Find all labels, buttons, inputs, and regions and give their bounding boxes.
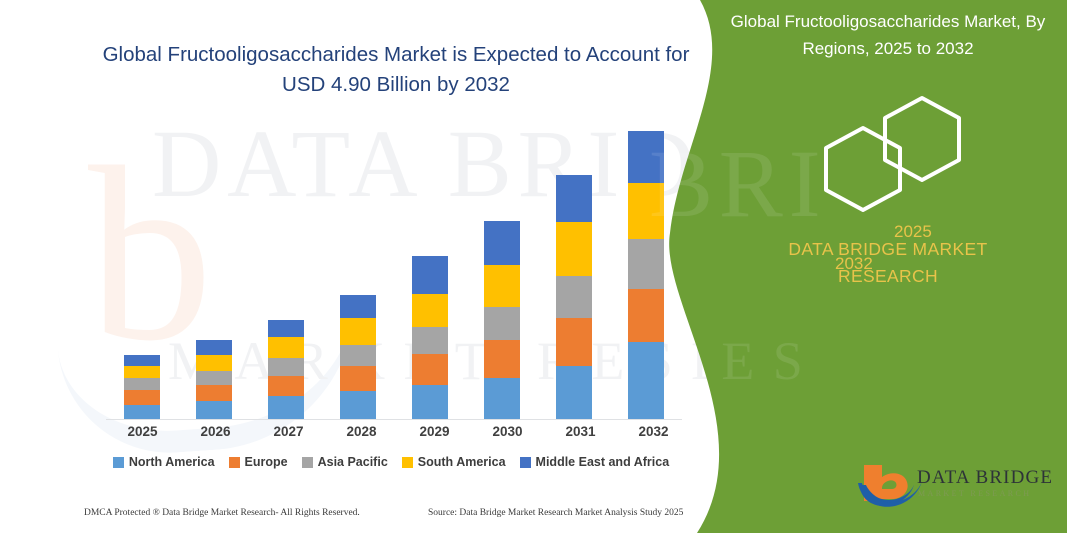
bar-segment bbox=[556, 276, 592, 318]
bar-segment bbox=[340, 391, 376, 419]
bar-segment bbox=[412, 385, 448, 419]
bar-segment bbox=[268, 320, 304, 336]
x-axis-line bbox=[106, 419, 682, 420]
legend-item[interactable]: Asia Pacific bbox=[302, 455, 388, 469]
x-axis-label-2026: 2026 bbox=[179, 424, 252, 439]
bar-slot bbox=[322, 120, 394, 419]
legend-item[interactable]: Middle East and Africa bbox=[520, 455, 670, 469]
bar-segment bbox=[124, 355, 160, 366]
bar-segment bbox=[196, 385, 232, 401]
bar-segment bbox=[628, 289, 664, 342]
source-notice: Source: Data Bridge Market Research Mark… bbox=[428, 508, 683, 518]
bar-segment bbox=[124, 405, 160, 419]
green-watermark-line2: RES bbox=[667, 330, 821, 392]
bar-segment bbox=[484, 378, 520, 419]
green-watermark-line1: BRI bbox=[649, 128, 826, 239]
stacked-bar-2028 bbox=[340, 295, 376, 419]
hexagon-outlines bbox=[807, 94, 987, 214]
bar-segment bbox=[196, 340, 232, 355]
bar-slot bbox=[250, 120, 322, 419]
year-hexagons: 2032 2025 bbox=[807, 94, 987, 214]
green-panel-content: BRI RES Global Fructooligosaccharides Ma… bbox=[667, 0, 1067, 533]
bar-segment bbox=[268, 358, 304, 376]
hexagon-2025 bbox=[885, 98, 959, 180]
bar-segment bbox=[340, 345, 376, 367]
x-axis-label-2030: 2030 bbox=[471, 424, 544, 439]
bar-segment bbox=[268, 376, 304, 397]
bar-segment bbox=[124, 378, 160, 390]
dmca-notice: DMCA Protected ® Data Bridge Market Rese… bbox=[84, 508, 360, 518]
data-bridge-logo: DATA BRIDGE MARKET RESEARCH bbox=[852, 455, 1052, 517]
legend-swatch-icon bbox=[402, 457, 413, 468]
legend-label: North America bbox=[129, 455, 215, 469]
bar-segment bbox=[340, 318, 376, 345]
stacked-bar-2027 bbox=[268, 320, 304, 419]
green-panel-title: Global Fructooligosaccharides Market, By… bbox=[723, 8, 1053, 62]
legend-label: South America bbox=[418, 455, 506, 469]
legend-label: Europe bbox=[245, 455, 288, 469]
stacked-bar-2029 bbox=[412, 256, 448, 419]
hexagon-2032 bbox=[826, 128, 900, 210]
bar-slot bbox=[466, 120, 538, 419]
bar-slot bbox=[106, 120, 178, 419]
bar-segment bbox=[556, 318, 592, 366]
bar-segment bbox=[340, 295, 376, 318]
bar-segment bbox=[268, 396, 304, 419]
bar-slot bbox=[538, 120, 610, 419]
bar-segment bbox=[412, 327, 448, 354]
chart-plot-area bbox=[106, 120, 682, 419]
logo-tagline: MARKET RESEARCH bbox=[918, 489, 1031, 498]
bar-segment bbox=[124, 366, 160, 377]
x-axis-label-2025: 2025 bbox=[106, 424, 179, 439]
x-axis-label-2031: 2031 bbox=[544, 424, 617, 439]
bar-segment bbox=[628, 342, 664, 419]
bar-segment bbox=[484, 221, 520, 265]
x-axis-label-2028: 2028 bbox=[325, 424, 398, 439]
bar-segment bbox=[484, 340, 520, 378]
chart-legend: North AmericaEuropeAsia PacificSouth Ame… bbox=[96, 455, 686, 469]
bar-segment bbox=[484, 307, 520, 340]
green-side-panel: BRI RES Global Fructooligosaccharides Ma… bbox=[667, 0, 1067, 533]
legend-swatch-icon bbox=[520, 457, 531, 468]
stacked-bar-2026 bbox=[196, 340, 232, 419]
footer: DMCA Protected ® Data Bridge Market Rese… bbox=[0, 508, 700, 528]
legend-label: Middle East and Africa bbox=[536, 455, 670, 469]
bar-segment bbox=[412, 354, 448, 385]
legend-item[interactable]: South America bbox=[402, 455, 506, 469]
bar-segment bbox=[268, 337, 304, 359]
logo-wordmark: DATA BRIDGE bbox=[917, 467, 1053, 489]
legend-swatch-icon bbox=[302, 457, 313, 468]
bar-segment bbox=[556, 175, 592, 222]
brand-name: DATA BRIDGE MARKET RESEARCH bbox=[773, 236, 1003, 290]
page-title: Global Fructooligosaccharides Market is … bbox=[96, 40, 696, 100]
legend-item[interactable]: Europe bbox=[229, 455, 288, 469]
bar-segment bbox=[412, 294, 448, 327]
legend-swatch-icon bbox=[113, 457, 124, 468]
legend-item[interactable]: North America bbox=[113, 455, 215, 469]
bar-segment bbox=[484, 265, 520, 306]
bar-segment bbox=[124, 390, 160, 404]
stacked-bar-2025 bbox=[124, 355, 160, 419]
bar-segment bbox=[340, 366, 376, 391]
bar-segment bbox=[196, 401, 232, 419]
legend-swatch-icon bbox=[229, 457, 240, 468]
stacked-bar-2030 bbox=[484, 221, 520, 419]
bar-segment bbox=[628, 239, 664, 290]
bar-segment bbox=[556, 366, 592, 419]
bar-segment bbox=[196, 371, 232, 385]
bar-segment bbox=[196, 355, 232, 370]
x-axis-label-2029: 2029 bbox=[398, 424, 471, 439]
legend-label: Asia Pacific bbox=[318, 455, 388, 469]
bar-segment bbox=[412, 256, 448, 294]
bar-segment bbox=[556, 222, 592, 276]
bar-slot bbox=[394, 120, 466, 419]
infographic-canvas: b DATA BRIDGE MARKET RESEARCH Global Fru… bbox=[0, 0, 1067, 533]
bar-slot bbox=[178, 120, 250, 419]
x-axis-label-2027: 2027 bbox=[252, 424, 325, 439]
stacked-bar-chart bbox=[96, 120, 686, 420]
x-axis-labels: 20252026202720282029203020312032 bbox=[106, 424, 690, 439]
stacked-bar-2031 bbox=[556, 175, 592, 419]
